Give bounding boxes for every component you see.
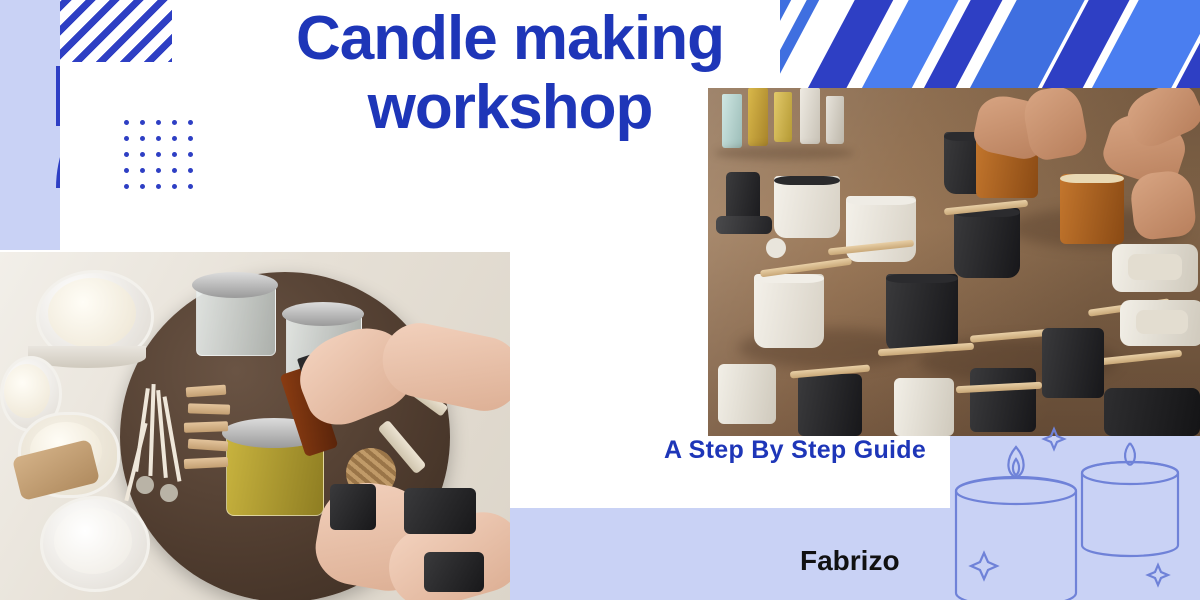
poster-canvas: Candle making workshop A Step By Step Gu…: [0, 0, 1200, 600]
author-name: Fabrizo: [800, 545, 900, 577]
page-title: Candle making workshop: [180, 4, 840, 143]
supplies-photo: [0, 252, 510, 600]
left-lilac-corner: [0, 188, 60, 250]
title-line-2: workshop: [180, 73, 840, 142]
candle-line-art-icon: [942, 425, 1192, 600]
subtitle: A Step By Step Guide: [664, 436, 926, 465]
title-line-1: Candle making: [180, 4, 840, 73]
